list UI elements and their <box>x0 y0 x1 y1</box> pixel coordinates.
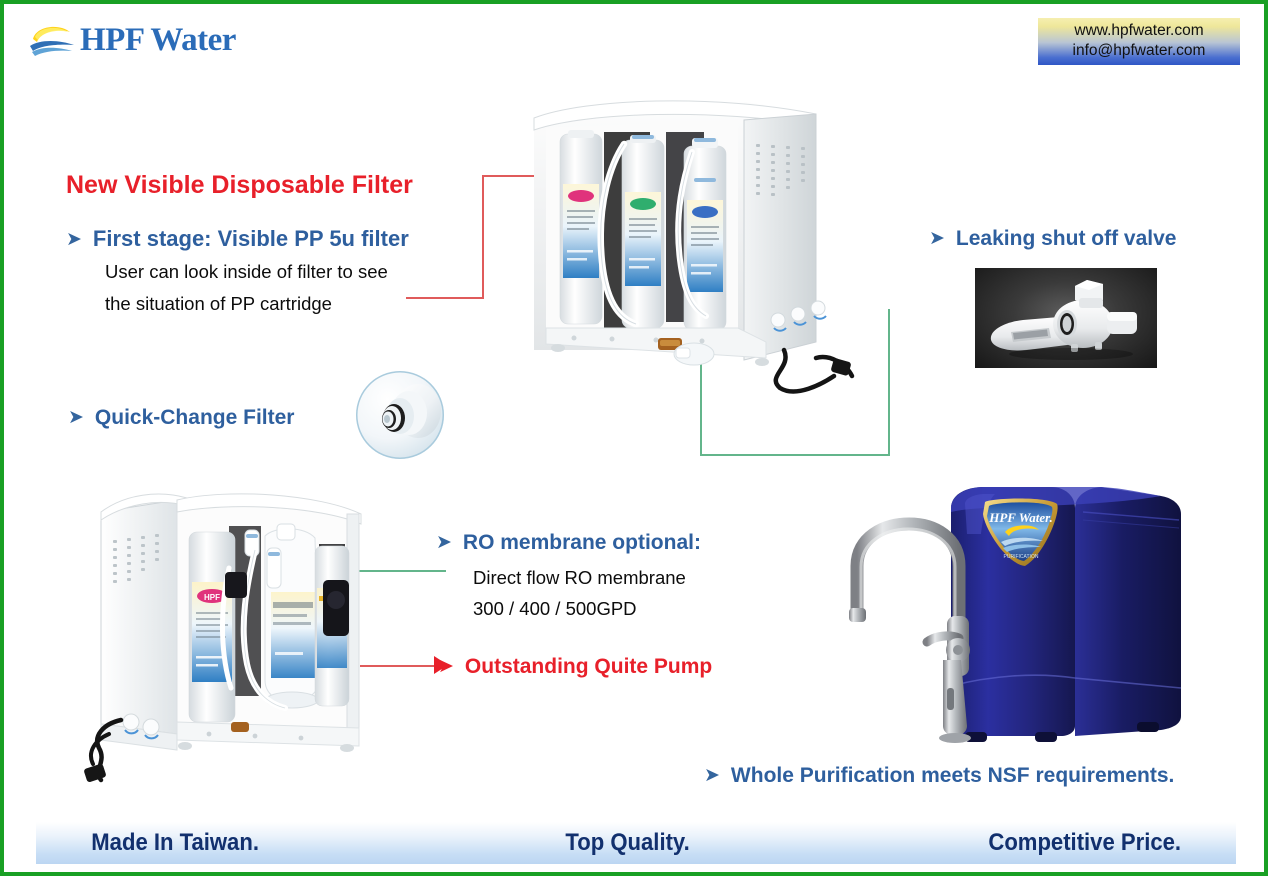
brand-logo: HPF Water <box>26 20 236 60</box>
callout-line-red-bottom <box>406 297 484 299</box>
callout-quick-change-label: Quick-Change Filter <box>95 406 295 430</box>
svg-text:HPF: HPF <box>204 593 220 602</box>
callout-pump-label: Outstanding Quite Pump <box>465 655 712 679</box>
slide-canvas: HPF Water www.hpfwater.com info@hpfwater… <box>0 0 1268 876</box>
callout-ro-membrane-label: RO membrane optional: <box>463 531 701 555</box>
callout-line-red-vertical <box>482 175 484 299</box>
chevron-right-icon: ➤ <box>438 657 454 676</box>
chevron-right-icon: ➤ <box>436 533 452 552</box>
website-text[interactable]: www.hpfwater.com <box>1046 21 1232 41</box>
callout-leaking-valve: ➤ Leaking shut off valve <box>929 227 1176 251</box>
footer-competitive-price: Competitive Price. <box>988 829 1181 857</box>
filter-cartridge-head-icon <box>356 371 444 459</box>
leak-shut-off-valve-photo <box>975 268 1157 368</box>
svg-text:HPF Water.: HPF Water. <box>988 510 1053 525</box>
blue-ro-purifier-with-faucet-photo: HPF Water. PURIFICATION <box>839 474 1189 764</box>
callout-line-green-bottom <box>700 454 890 456</box>
callout-first-stage: ➤ First stage: Visible PP 5u filter <box>66 226 409 252</box>
footer-top-quality: Top Quality. <box>565 829 689 857</box>
callout-nsf: ➤ Whole Purification meets NSF requireme… <box>704 764 1174 788</box>
sun-wave-logo-icon <box>26 20 78 60</box>
callout-new-filter-title: New Visible Disposable Filter <box>66 171 413 200</box>
contact-info-box: www.hpfwater.com info@hpfwater.com <box>1038 18 1240 65</box>
callout-nsf-label: Whole Purification meets NSF requirement… <box>731 764 1174 788</box>
footer-bar: Made In Taiwan. Top Quality. Competitive… <box>36 822 1236 864</box>
chevron-right-icon: ➤ <box>704 766 720 785</box>
callout-leaking-valve-label: Leaking shut off valve <box>956 227 1177 251</box>
callout-line-green-right <box>888 309 890 456</box>
chevron-right-icon: ➤ <box>929 229 945 248</box>
callout-first-stage-detail-2: the situation of PP cartridge <box>105 293 332 315</box>
callout-first-stage-detail-1: User can look inside of filter to see <box>105 261 388 283</box>
callout-first-stage-label: First stage: Visible PP 5u filter <box>93 226 409 252</box>
callout-ro-detail-2: 300 / 400 / 500GPD <box>473 598 637 620</box>
callout-ro-detail-1: Direct flow RO membrane <box>473 567 686 589</box>
chevron-right-icon: ➤ <box>66 230 82 249</box>
email-text[interactable]: info@hpfwater.com <box>1046 41 1232 61</box>
callout-ro-membrane: ➤ RO membrane optional: <box>436 531 701 555</box>
svg-text:PURIFICATION: PURIFICATION <box>1004 554 1039 560</box>
callout-pump: ➤ Outstanding Quite Pump <box>438 655 712 679</box>
brand-name: HPF Water <box>80 24 236 57</box>
ro-system-side-view-photo: HPF <box>79 484 389 804</box>
callout-quick-change: ➤ Quick-Change Filter <box>68 406 294 430</box>
chevron-right-icon: ➤ <box>68 408 84 427</box>
footer-made-in-taiwan: Made In Taiwan. <box>91 829 259 857</box>
ro-system-open-cabinet-photo <box>516 92 861 402</box>
